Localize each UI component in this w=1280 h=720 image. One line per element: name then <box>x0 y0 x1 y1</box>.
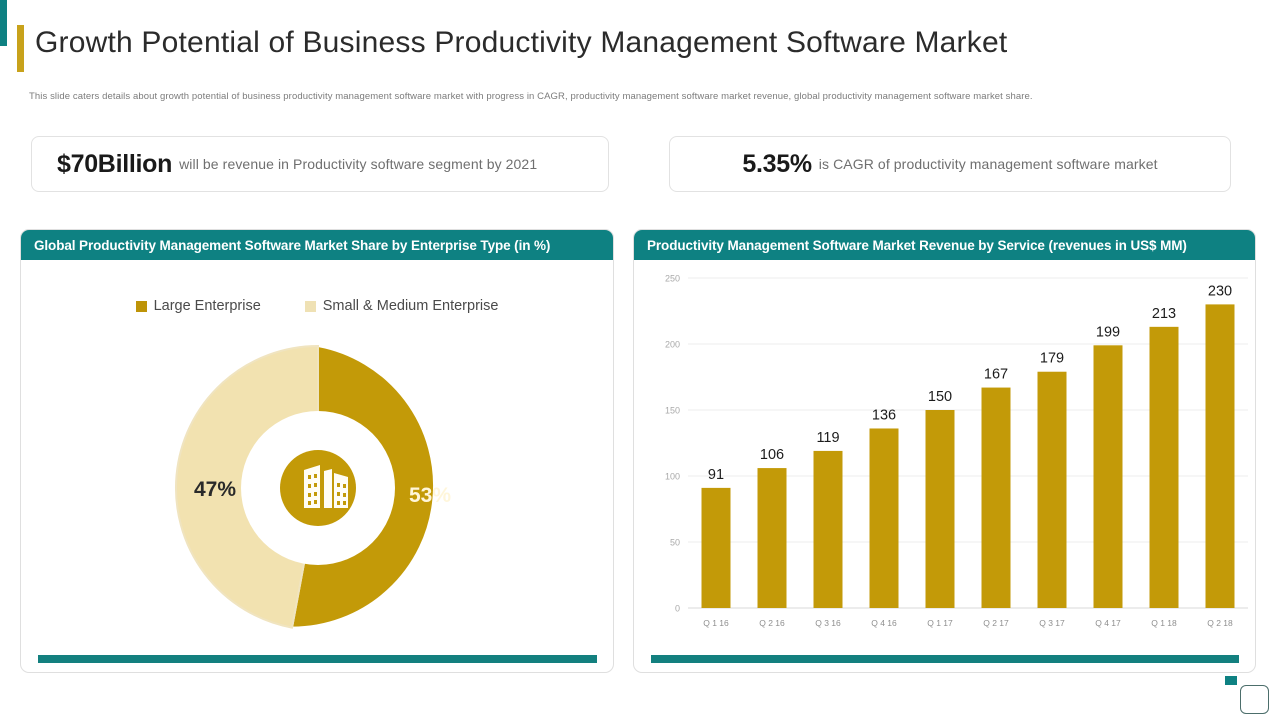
y-axis-tick-label: 100 <box>665 472 680 482</box>
donut-label-large-enterprise: 53% <box>409 484 451 507</box>
legend-item-large-enterprise[interactable]: Large Enterprise <box>136 298 261 314</box>
bar-q-4-17[interactable] <box>1094 345 1123 608</box>
bar-q-1-17[interactable] <box>926 410 955 608</box>
x-axis-category-label: Q 2 17 <box>983 618 1009 628</box>
donut-chart-svg: 47% 53% <box>168 338 468 638</box>
bar-value-label: 213 <box>1152 306 1176 322</box>
y-axis-tick-label: 200 <box>665 340 680 350</box>
x-axis-category-label: Q 4 17 <box>1095 618 1121 628</box>
y-axis-tick-label: 150 <box>665 406 680 416</box>
kpi-card-revenue: $70Billion will be revenue in Productivi… <box>31 136 609 192</box>
panel-market-share-footer-bar <box>38 655 597 663</box>
corner-teal-mark <box>1225 676 1237 685</box>
kpi-card-cagr: 5.35% is CAGR of productivity management… <box>669 136 1231 192</box>
x-axis-category-label: Q 3 17 <box>1039 618 1065 628</box>
bar-q-2-17[interactable] <box>982 388 1011 608</box>
bar-q-3-17[interactable] <box>1038 372 1067 608</box>
panel-market-revenue-title: Productivity Management Software Market … <box>634 230 1255 260</box>
bar-value-label: 199 <box>1096 324 1120 340</box>
donut-label-small-medium-enterprise: 47% <box>194 478 236 501</box>
legend-label-small-medium-enterprise: Small & Medium Enterprise <box>323 298 499 314</box>
bar-value-label: 91 <box>708 467 724 483</box>
panel-market-revenue: Productivity Management Software Market … <box>633 229 1256 673</box>
bar-value-label: 179 <box>1040 351 1064 367</box>
legend-label-large-enterprise: Large Enterprise <box>154 298 261 314</box>
page-title: Growth Potential of Business Productivit… <box>35 26 1007 60</box>
bar-q-1-16[interactable] <box>702 488 731 608</box>
legend-item-small-medium-enterprise[interactable]: Small & Medium Enterprise <box>305 298 499 314</box>
bar-chart: 05010015020025091Q 1 16106Q 2 16119Q 3 1… <box>634 260 1256 670</box>
x-axis-category-label: Q 1 17 <box>927 618 953 628</box>
y-axis-tick-label: 0 <box>675 604 680 614</box>
bar-q-2-18[interactable] <box>1206 304 1235 608</box>
y-axis-tick-label: 250 <box>665 274 680 284</box>
corner-placeholder-box[interactable] <box>1240 685 1269 714</box>
y-axis-tick-label: 50 <box>670 538 680 548</box>
bar-q-4-16[interactable] <box>870 428 899 608</box>
x-axis-category-label: Q 1 16 <box>703 618 729 628</box>
bar-q-1-18[interactable] <box>1150 327 1179 608</box>
bar-value-label: 106 <box>760 447 784 463</box>
bar-chart-svg: 05010015020025091Q 1 16106Q 2 16119Q 3 1… <box>634 260 1256 660</box>
x-axis-category-label: Q 2 18 <box>1207 618 1233 628</box>
x-axis-category-label: Q 3 16 <box>815 618 841 628</box>
bar-q-2-16[interactable] <box>758 468 787 608</box>
bar-value-label: 136 <box>872 407 896 423</box>
header-accent-teal-bar <box>0 0 7 46</box>
bar-q-3-16[interactable] <box>814 451 843 608</box>
x-axis-category-label: Q 4 16 <box>871 618 897 628</box>
donut-chart: 47% 53% <box>73 338 563 638</box>
x-axis-category-label: Q 1 18 <box>1151 618 1177 628</box>
kpi-cagr-text: is CAGR of productivity management softw… <box>819 156 1158 172</box>
panel-market-revenue-footer-bar <box>651 655 1239 663</box>
legend-swatch-large-enterprise <box>136 301 147 312</box>
donut-legend: Large Enterprise Small & Medium Enterpri… <box>21 298 613 314</box>
kpi-cagr-value: 5.35% <box>742 150 811 179</box>
bar-value-label: 230 <box>1208 283 1232 299</box>
bar-value-label: 150 <box>928 389 952 405</box>
bar-value-label: 167 <box>984 367 1008 383</box>
bar-value-label: 119 <box>816 430 839 446</box>
panel-market-share: Global Productivity Management Software … <box>20 229 614 673</box>
kpi-revenue-text: will be revenue in Productivity software… <box>179 156 537 172</box>
panel-market-share-title: Global Productivity Management Software … <box>21 230 613 260</box>
x-axis-category-label: Q 2 16 <box>759 618 785 628</box>
legend-swatch-small-medium-enterprise <box>305 301 316 312</box>
page-subtitle: This slide caters details about growth p… <box>29 91 1033 102</box>
kpi-revenue-value: $70Billion <box>57 150 172 179</box>
header-accent-gold-bar <box>17 25 24 72</box>
